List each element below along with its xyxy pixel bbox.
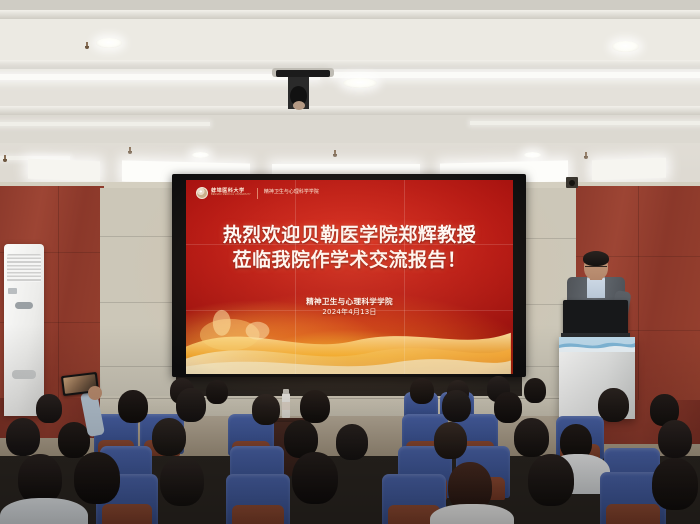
laptop-screen[interactable]: [563, 300, 628, 334]
audience-head: [598, 388, 629, 422]
wall-beige-left: [100, 188, 176, 400]
projector-body: [276, 70, 330, 77]
ac-display-panel: [8, 288, 17, 294]
audience-head: [528, 454, 574, 506]
wall-camera-icon: [566, 177, 578, 188]
ceiling-strip-light: [330, 72, 700, 78]
chair[interactable]: [226, 474, 290, 524]
ceiling-panel-light: [592, 158, 666, 181]
audience-row-1: [0, 452, 700, 524]
audience-head: [152, 418, 186, 456]
ac-logo-badge: [15, 302, 33, 309]
ceiling-strip-light: [470, 121, 700, 125]
ac-vent-grille: [7, 254, 41, 282]
audience-head: [292, 452, 338, 504]
ceiling-downlight: [612, 41, 639, 52]
screen-vignette: [186, 180, 513, 374]
podium-wave-graphic: [559, 337, 635, 352]
ceiling-downlight: [192, 152, 209, 158]
sprinkler-head-icon: [333, 150, 337, 157]
ceiling-strip-light: [0, 122, 210, 126]
ceiling-downlight: [96, 38, 122, 48]
projector-lens-cap: [293, 101, 305, 110]
audience-head: [18, 454, 62, 504]
lecture-hall-photo: 蚌埠医科大学 BENGBU MEDICAL UNIVERSITY 精神卫生与心理…: [0, 0, 700, 524]
speaker-glasses-icon: [585, 266, 607, 270]
sprinkler-head-icon: [584, 152, 588, 159]
audience-head: [176, 388, 206, 422]
sprinkler-head-icon: [3, 155, 7, 162]
ceiling-downlight: [524, 152, 541, 158]
video-wall-screen[interactable]: 蚌埠医科大学 BENGBU MEDICAL UNIVERSITY 精神卫生与心理…: [186, 180, 513, 374]
ceiling: [0, 0, 700, 186]
attendee-hand: [88, 386, 102, 400]
audience-head: [74, 452, 120, 504]
ceiling-downlight: [343, 78, 377, 88]
audience-head: [652, 458, 698, 510]
ceiling-panel-light: [28, 159, 100, 182]
audience-head: [6, 418, 40, 456]
audience-shoulders: [430, 504, 514, 524]
audience-head: [160, 456, 204, 506]
sprinkler-head-icon: [128, 147, 132, 154]
sprinkler-head-icon: [85, 42, 89, 49]
audience-shoulders: [0, 498, 88, 524]
speaker-hair: [583, 251, 609, 266]
